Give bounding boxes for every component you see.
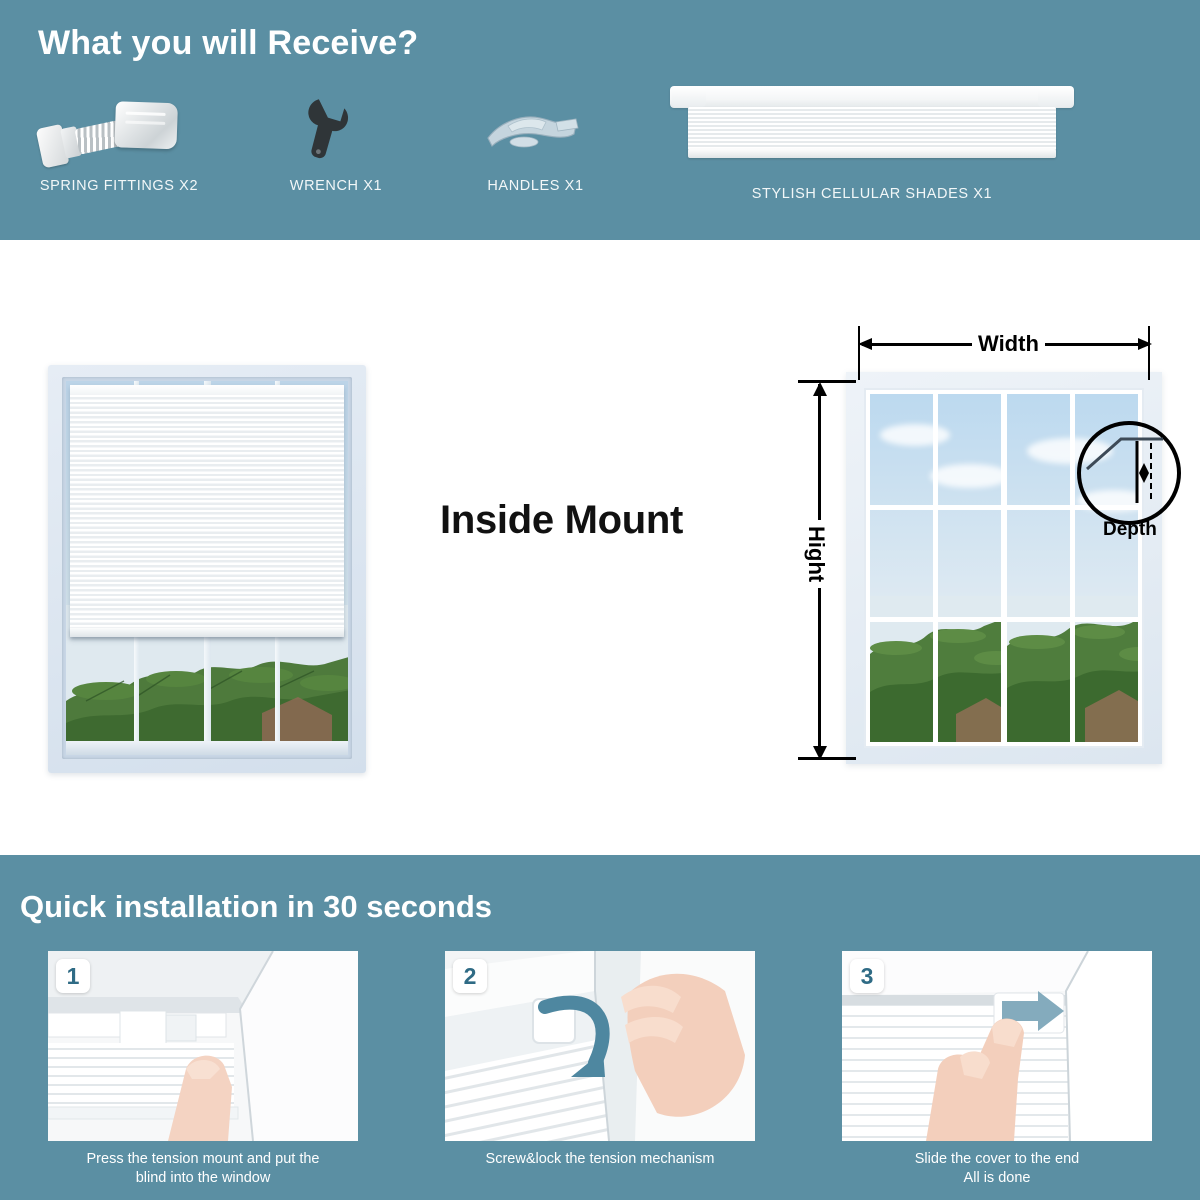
install-step-2: 2 Screw&lock the tension mechanism <box>445 951 755 1169</box>
parts-section-title: What you will Receive? <box>38 24 418 63</box>
step-3-badge: 3 <box>850 959 884 993</box>
wrench-icon <box>276 92 366 170</box>
step-2-image: 2 <box>445 951 755 1141</box>
part-spring-fittings: SPRING FITTINGS X2 <box>30 88 210 194</box>
part-handles: HANDLES X1 <box>478 88 593 194</box>
spring-fitting-art <box>30 88 210 170</box>
window-with-shade-photo <box>48 365 366 773</box>
spring-fitting-icon <box>24 80 196 186</box>
step-1-caption: Press the tension mount and put the blin… <box>48 1150 358 1187</box>
step-2-caption: Screw&lock the tension mechanism <box>445 1150 755 1169</box>
handle-art <box>478 88 593 170</box>
step-1-image: 1 <box>48 951 358 1141</box>
wrench-art <box>276 88 396 170</box>
width-label: Width <box>972 331 1045 357</box>
step-3-image: 3 <box>842 951 1152 1141</box>
depth-detail-lines <box>1077 421 1177 521</box>
parts-row: SPRING FITTINGS X2 WRENCH X1 <box>0 88 1200 228</box>
cellular-blind-lowered <box>70 385 344 637</box>
installation-section: Quick installation in 30 seconds <box>0 855 1200 1200</box>
handle-icon <box>478 104 582 162</box>
part-label-cellular-shade: STYLISH CELLULAR SHADES X1 <box>670 186 1074 202</box>
step-1-caption-line1: Press the tension mount and put the <box>48 1150 358 1169</box>
cellular-shade-icon <box>670 86 1074 162</box>
infographic-page: What you will Receive? SPRING FITTINGS X… <box>0 0 1200 1200</box>
step-1-badge: 1 <box>56 959 90 993</box>
install-step-3: 3 Slide the cover to the end All is done <box>842 951 1152 1187</box>
step-2-caption-line1: Screw&lock the tension mechanism <box>445 1150 755 1169</box>
step-1-caption-line2: blind into the window <box>48 1169 358 1188</box>
page-title: Inside Mount <box>440 498 683 543</box>
part-wrench: WRENCH X1 <box>276 88 396 194</box>
step-3-caption: Slide the cover to the end All is done <box>842 1150 1152 1187</box>
part-label-wrench: WRENCH X1 <box>276 178 396 194</box>
install-step-1: 1 Press the tension mount and put the bl… <box>48 951 358 1187</box>
part-cellular-shade: STYLISH CELLULAR SHADES X1 <box>670 86 1074 202</box>
depth-label: Depth <box>1097 519 1163 541</box>
step-2-badge: 2 <box>453 959 487 993</box>
step-3-caption-line2: All is done <box>842 1169 1152 1188</box>
cellular-shade-art <box>670 86 1074 172</box>
height-label: Hight <box>803 520 829 588</box>
parts-section: What you will Receive? SPRING FITTINGS X… <box>0 0 1200 240</box>
part-label-handles: HANDLES X1 <box>478 178 593 194</box>
installation-section-title: Quick installation in 30 seconds <box>20 889 492 925</box>
step-3-caption-line1: Slide the cover to the end <box>842 1150 1152 1169</box>
